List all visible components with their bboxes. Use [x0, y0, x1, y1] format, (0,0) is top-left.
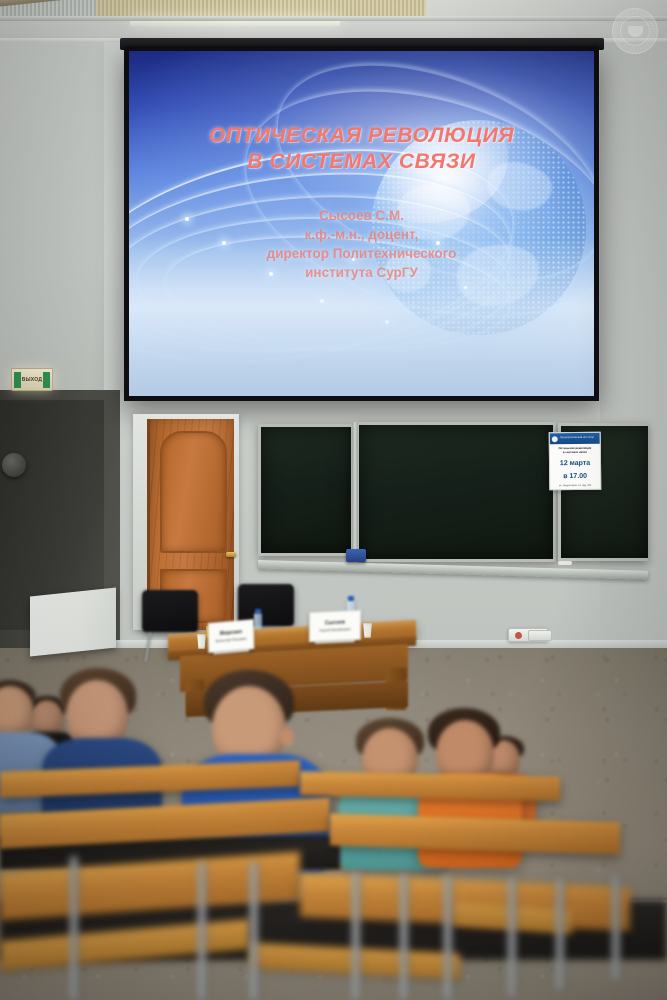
namecard-name: Сысоев — [325, 620, 345, 627]
person-ear — [280, 728, 294, 746]
exit-sign-bar-left — [14, 372, 21, 388]
bench-rail — [612, 876, 620, 980]
slide-subtitle-line-0: Сысоев С.М. — [267, 206, 457, 225]
chalk[interactable] — [558, 561, 572, 565]
namecard-subtitle: Сергей Михайлович — [319, 627, 351, 632]
poster-header: Политехнический институт — [550, 433, 600, 445]
eraser[interactable] — [346, 549, 366, 562]
lecture-hall-photo: ВЫХОД — [0, 0, 667, 1000]
projection-screen: ОПТИЧЕСКАЯ РЕВОЛЮЦИЯ В СИСТЕМАХ СВЯЗИ Сы… — [129, 51, 594, 396]
slide-subtitle: Сысоев С.М. к.ф.-м.н., доцент, директор … — [267, 206, 457, 283]
door-panel-top — [160, 431, 227, 553]
poster-footer: ул. Энергетиков, 14, ауд. 201 — [550, 484, 600, 488]
radiator-cover — [30, 587, 116, 656]
bench-rail — [556, 878, 564, 990]
exit-sign: ВЫХОД — [11, 368, 53, 391]
announcement-poster: Политехнический институт Оптическая рево… — [549, 432, 602, 491]
chalkboard-panel-center — [356, 422, 556, 562]
bench-rail — [70, 856, 78, 1000]
poster-logo-icon — [552, 436, 558, 442]
chalkboard-panel-left — [258, 424, 354, 556]
bench-rail — [198, 862, 206, 1000]
bench-rail — [444, 876, 452, 1000]
bench-rail — [352, 872, 360, 1000]
chalkboard-divider — [352, 422, 358, 564]
ceiling-vent — [96, 0, 426, 16]
bottle-cap — [255, 609, 261, 614]
bench-rail — [250, 862, 258, 1000]
slide-subtitle-line-3: института СурГУ — [267, 263, 457, 282]
slide-text-block: ОПТИЧЕСКАЯ РЕВОЛЮЦИЯ В СИСТЕМАХ СВЯЗИ Сы… — [129, 51, 594, 396]
bottle-cap — [348, 596, 354, 601]
bench-rail — [508, 878, 516, 996]
namecard-name: Жирских — [220, 629, 243, 637]
outlet-socket-icon — [515, 632, 522, 639]
slide-title-line1: ОПТИЧЕСКАЯ РЕВОЛЮЦИЯ — [209, 123, 514, 149]
wall-speaker-icon — [2, 453, 26, 477]
slide-subtitle-line-1: к.ф.-м.н., доцент, — [267, 225, 457, 244]
seal-ticks — [616, 12, 654, 50]
exit-sign-label: ВЫХОД — [22, 377, 43, 383]
poster-body: Оптическая революция в системах связи 12… — [550, 444, 600, 481]
door-handle[interactable] — [226, 552, 236, 557]
namecard-subtitle: Вячеслав Петрович — [216, 637, 247, 644]
slide-title-line2: В СИСТЕМАХ СВЯЗИ — [209, 149, 514, 175]
poster-header-text: Политехнический институт — [560, 437, 595, 440]
left-wall-upper — [0, 42, 104, 402]
slide-subtitle-line-2: директор Политехнического — [267, 244, 457, 263]
exit-sign-bar-right — [43, 372, 50, 388]
bench-rail — [400, 874, 408, 1000]
poster-date: 12 марта — [553, 459, 597, 468]
namecard: Жирских Вячеслав Петрович — [208, 619, 255, 653]
poster-subject-line2: в системах связи — [553, 451, 597, 455]
projection-screen-frame: ОПТИЧЕСКАЯ РЕВОЛЮЦИЯ В СИСТЕМАХ СВЯЗИ Сы… — [124, 46, 599, 401]
university-seal-watermark-icon — [612, 8, 658, 54]
slide-title: ОПТИЧЕСКАЯ РЕВОЛЮЦИЯ В СИСТЕМАХ СВЯЗИ — [209, 123, 514, 176]
light-switch[interactable] — [528, 630, 552, 641]
ceiling-beam — [0, 16, 667, 21]
chair-backrest — [142, 590, 198, 632]
namecard: Сысоев Сергей Михайлович — [309, 610, 361, 642]
poster-time: в 17.00 — [553, 472, 597, 481]
